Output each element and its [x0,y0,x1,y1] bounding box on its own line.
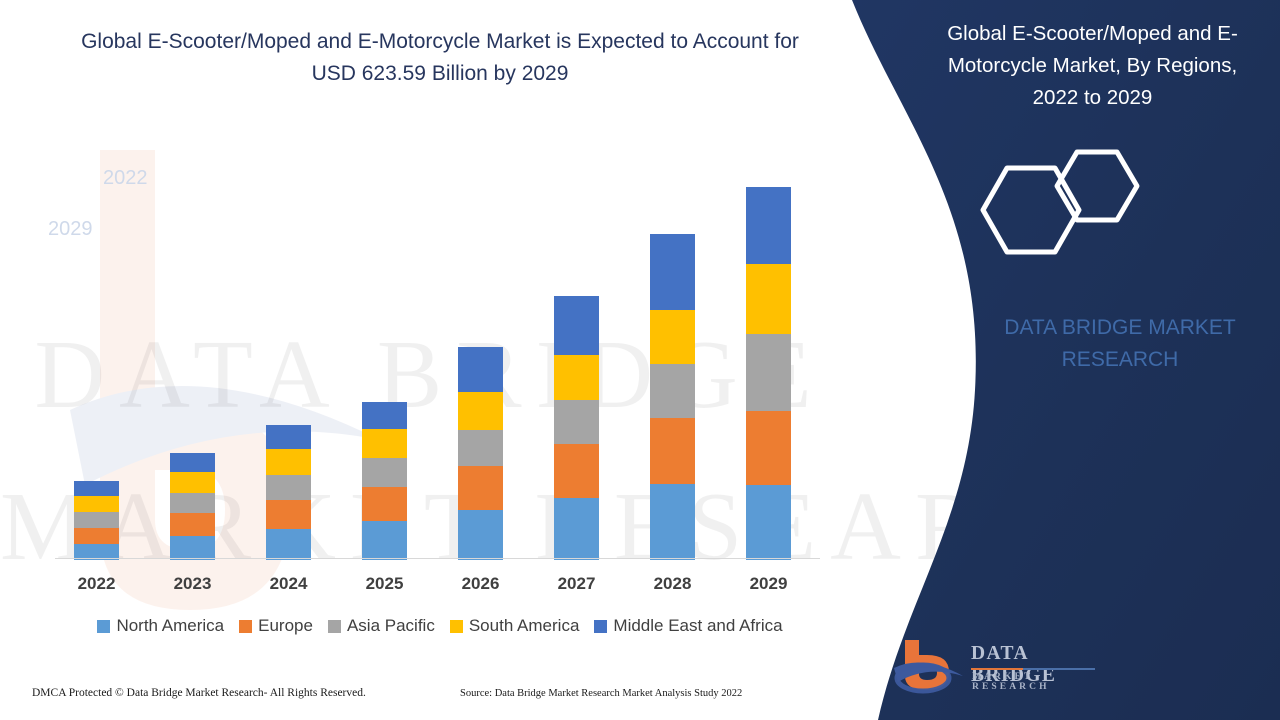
legend-item-asia-pacific[interactable]: Asia Pacific [328,616,435,636]
bar-2023[interactable] [170,453,215,560]
bar-segment-2026-middle-east-and-africa[interactable] [458,347,503,392]
bar-segment-2029-south-america[interactable] [746,264,791,334]
brand-wordmark-line-2: RESEARCH [955,344,1280,376]
bar-segment-2028-asia-pacific[interactable] [650,364,695,418]
legend-item-middle-east-and-africa[interactable]: Middle East and Africa [594,616,782,636]
bar-segment-2025-europe[interactable] [362,487,407,521]
copyright-notice: DMCA Protected © Data Bridge Market Rese… [32,687,366,699]
bar-segment-2025-middle-east-and-africa[interactable] [362,402,407,429]
bar-2022[interactable] [74,481,119,560]
x-axis-label-2024: 2024 [254,574,324,594]
bar-segment-2024-europe[interactable] [266,500,311,529]
x-axis-label-2023: 2023 [158,574,228,594]
legend-swatch-icon [450,620,463,633]
hexagon-label-start-year: 2022 [103,167,148,190]
bar-segment-2024-north-america[interactable] [266,529,311,560]
brand-wordmark-line-1: DATA BRIDGE MARKET [955,312,1280,344]
legend-item-south-america[interactable]: South America [450,616,580,636]
hexagon-label-end-year: 2029 [48,218,93,241]
bar-segment-2029-europe[interactable] [746,411,791,485]
bar-segment-2022-south-america[interactable] [74,496,119,512]
bar-segment-2028-south-america[interactable] [650,310,695,364]
legend-item-north-america[interactable]: North America [97,616,224,636]
bar-segment-2028-middle-east-and-africa[interactable] [650,234,695,310]
bar-segment-2023-south-america[interactable] [170,472,215,493]
legend-label: Middle East and Africa [613,616,782,636]
x-axis-label-2025: 2025 [350,574,420,594]
bar-segment-2028-europe[interactable] [650,418,695,484]
hexagon-badges [975,138,1175,283]
x-axis-label-2028: 2028 [638,574,708,594]
bar-segment-2024-middle-east-and-africa[interactable] [266,425,311,449]
bar-segment-2024-asia-pacific[interactable] [266,475,311,500]
data-bridge-logo-mark [893,638,965,696]
bar-2028[interactable] [650,234,695,560]
bar-segment-2027-middle-east-and-africa[interactable] [554,296,599,355]
data-bridge-logo: DATA BRIDGE MARKET RESEARCH [893,638,1103,700]
bar-segment-2022-europe[interactable] [74,528,119,544]
bar-segment-2022-asia-pacific[interactable] [74,512,119,528]
x-axis-label-2029: 2029 [734,574,804,594]
bar-segment-2022-middle-east-and-africa[interactable] [74,481,119,496]
hexagon-2029-shape [983,168,1079,252]
brand-wordmark: DATA BRIDGE MARKET RESEARCH [955,312,1280,375]
bar-2027[interactable] [554,296,599,560]
bar-2024[interactable] [266,425,311,560]
bar-segment-2023-asia-pacific[interactable] [170,493,215,513]
bar-segment-2027-europe[interactable] [554,444,599,498]
source-note: Source: Data Bridge Market Research Mark… [460,688,742,699]
x-axis-label-2026: 2026 [446,574,516,594]
bar-segment-2023-north-america[interactable] [170,536,215,560]
x-axis-line [55,558,820,559]
bar-segment-2024-south-america[interactable] [266,449,311,475]
bar-segment-2025-north-america[interactable] [362,521,407,560]
legend-label: Europe [258,616,313,636]
bar-segment-2026-south-america[interactable] [458,392,503,430]
bar-2029[interactable] [746,187,791,560]
hexagon-2022-shape [1057,152,1137,220]
bar-segment-2026-north-america[interactable] [458,510,503,560]
bar-segment-2028-north-america[interactable] [650,484,695,560]
legend-label: South America [469,616,580,636]
bar-chart-plot [55,160,820,560]
page-title: Global E-Scooter/Moped and E-Motorcycle … [60,26,820,90]
infographic-canvas: DATA BRIDGE MARKET RESEARCH Global E-Sco… [0,0,1280,720]
legend-label: Asia Pacific [347,616,435,636]
legend-swatch-icon [239,620,252,633]
logo-divider-rule [971,668,1095,670]
bar-segment-2025-asia-pacific[interactable] [362,458,407,487]
x-axis-label-2027: 2027 [542,574,612,594]
x-axis-label-2022: 2022 [62,574,132,594]
bar-segment-2025-south-america[interactable] [362,429,407,458]
bar-segment-2029-north-america[interactable] [746,485,791,560]
legend-swatch-icon [328,620,341,633]
chart-legend: North AmericaEuropeAsia PacificSouth Ame… [55,616,825,636]
bar-2026[interactable] [458,347,503,560]
bar-segment-2027-south-america[interactable] [554,355,599,400]
bar-segment-2027-asia-pacific[interactable] [554,400,599,444]
x-axis-labels: 20222023202420252026202720282029 [55,574,820,600]
legend-label: North America [116,616,224,636]
bar-segment-2026-asia-pacific[interactable] [458,430,503,466]
bar-segment-2027-north-america[interactable] [554,498,599,560]
bar-segment-2023-europe[interactable] [170,513,215,536]
bar-segment-2029-middle-east-and-africa[interactable] [746,187,791,264]
logo-text-secondary: MARKET RESEARCH [972,672,1103,692]
legend-swatch-icon [97,620,110,633]
bar-segment-2029-asia-pacific[interactable] [746,334,791,411]
legend-item-europe[interactable]: Europe [239,616,313,636]
bar-segment-2026-europe[interactable] [458,466,503,510]
bar-2025[interactable] [362,402,407,560]
panel-title: Global E-Scooter/Moped and E-Motorcycle … [925,18,1260,113]
legend-swatch-icon [594,620,607,633]
bar-segment-2023-middle-east-and-africa[interactable] [170,453,215,472]
